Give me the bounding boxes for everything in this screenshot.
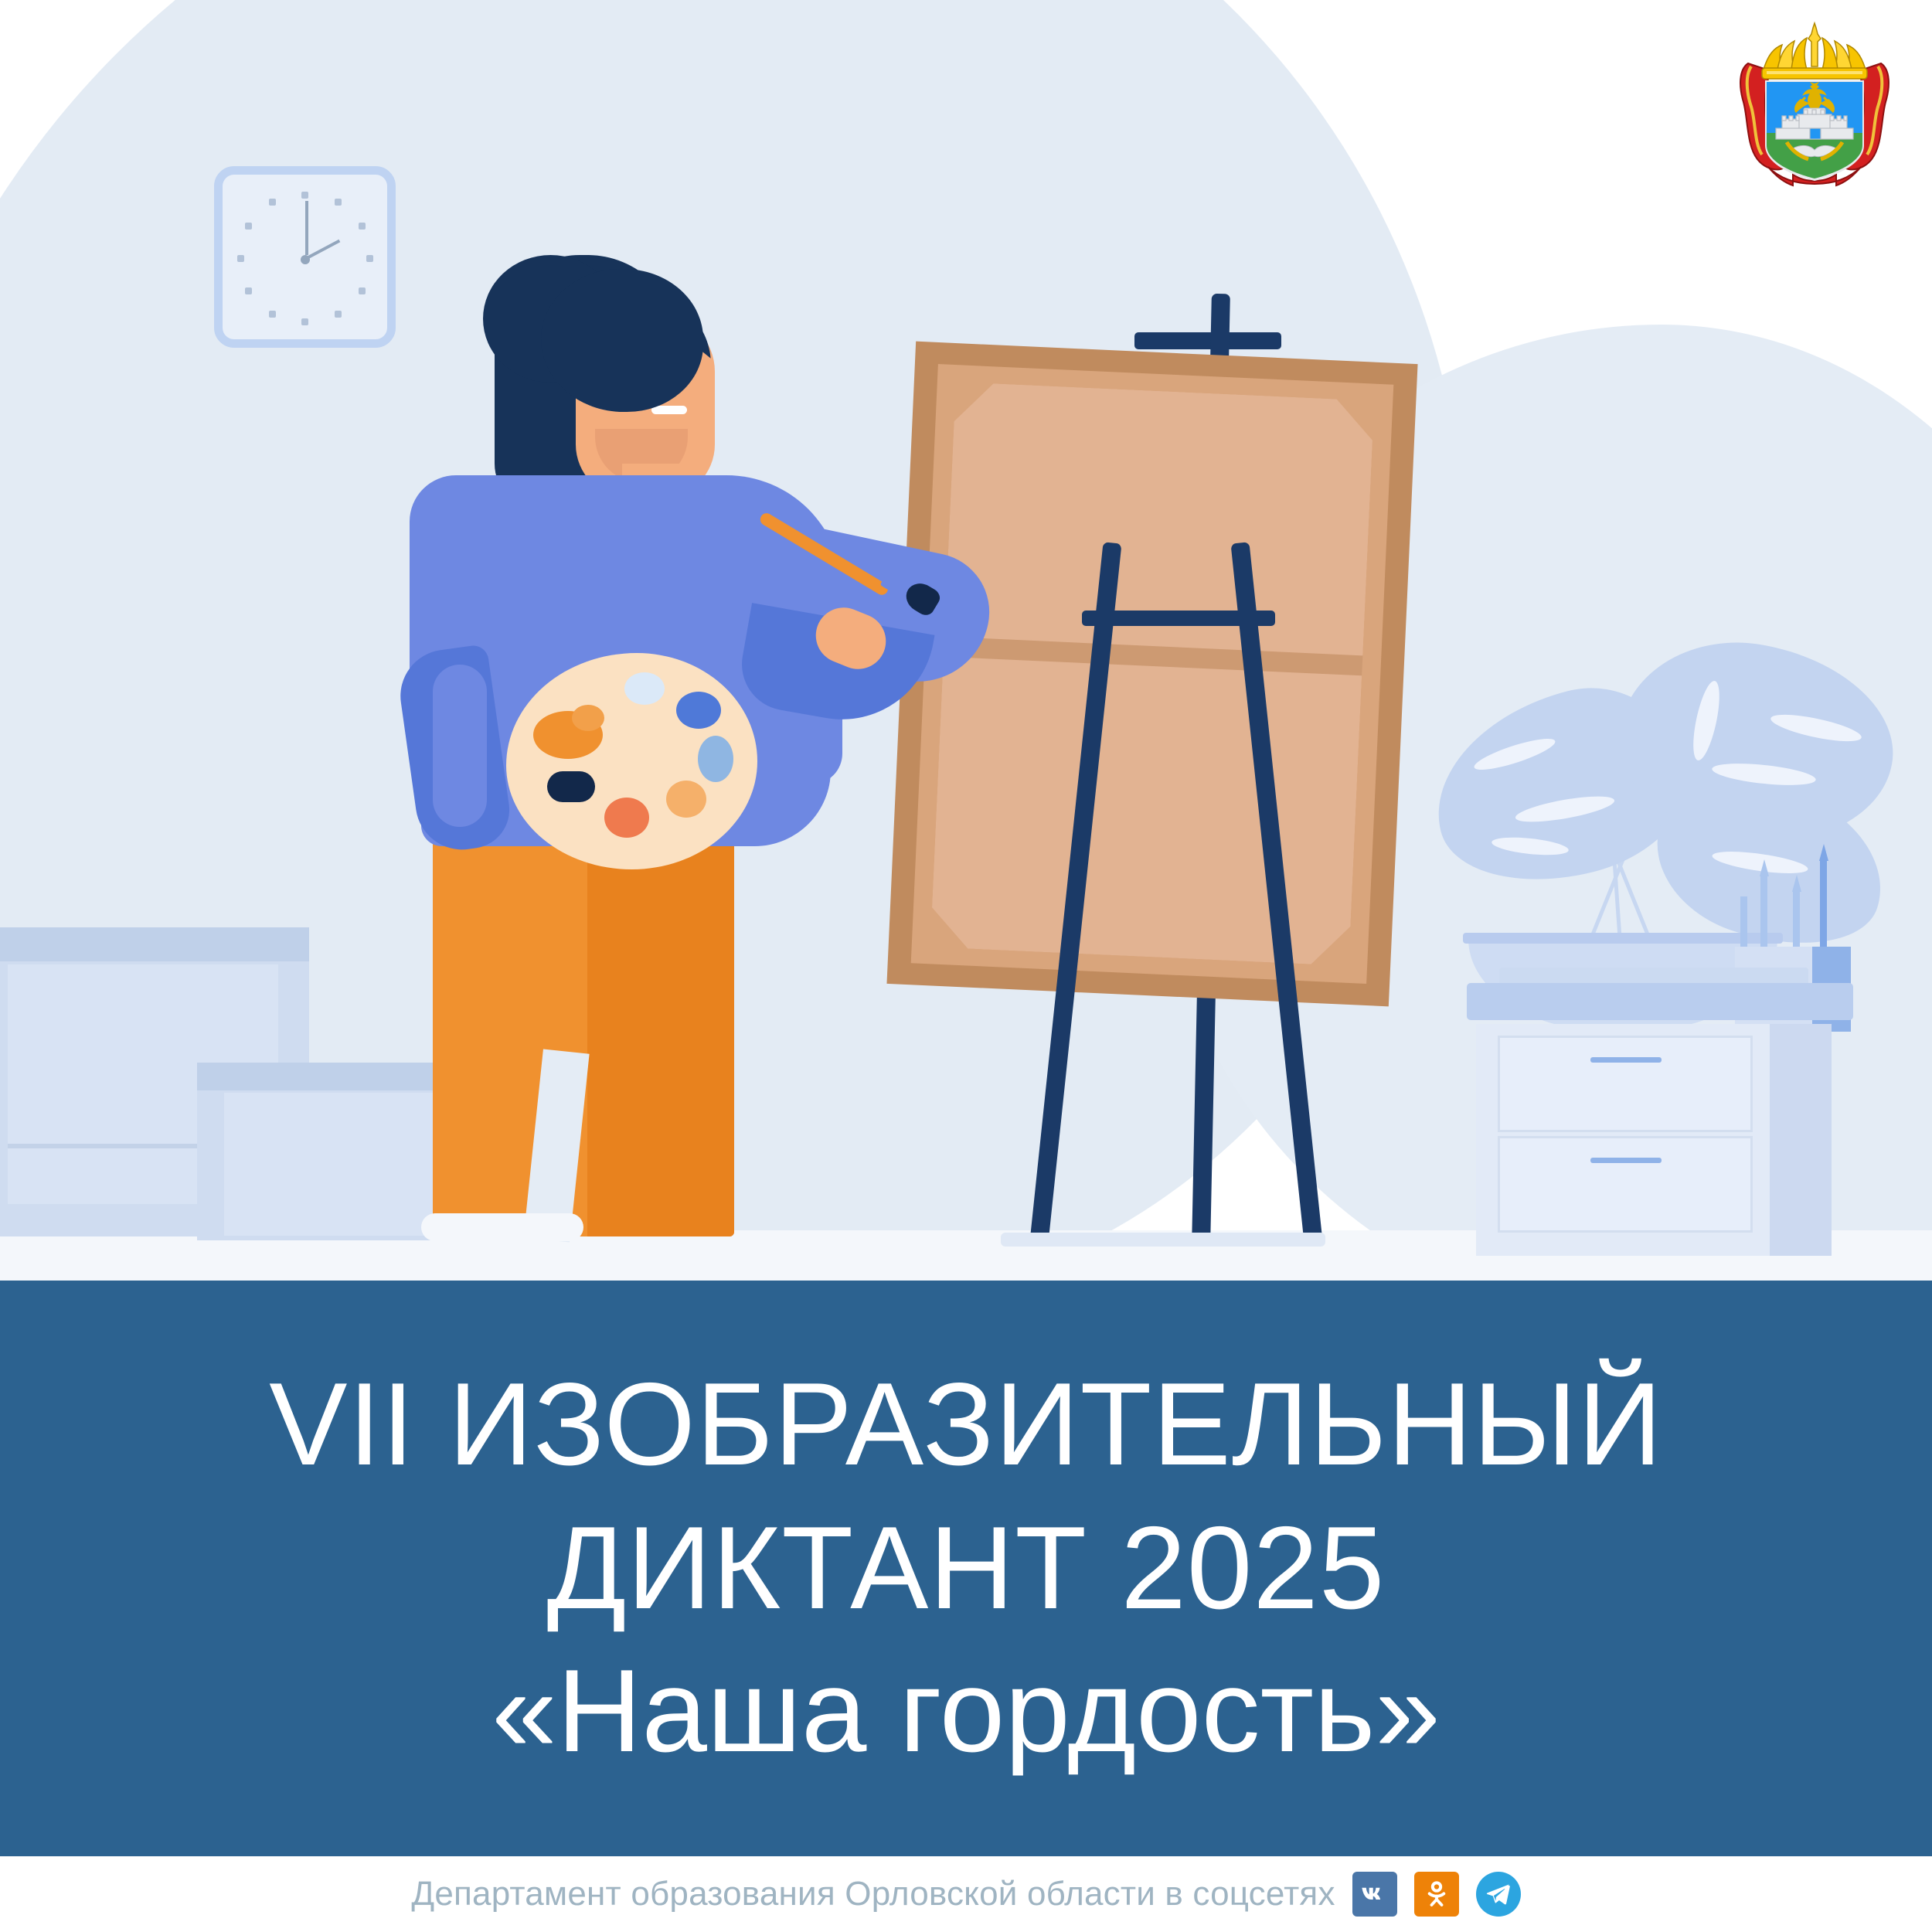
cabinet-top-surface [1467,983,1853,1020]
vk-glyph [1359,1878,1391,1910]
cabinet-drawer[interactable] [1498,1136,1753,1233]
easel-top-bar [1134,332,1281,349]
poster-root: VII ИЗОБРАЗИТЕЛЬНЫЙ ДИКТАНТ 2025 «Наша г… [0,0,1932,1932]
ok-glyph [1421,1879,1452,1910]
artist-hair-crown [541,269,703,412]
telegram-glyph [1485,1880,1512,1908]
paint-blob-pale-blue [624,672,665,705]
poster-title: VII ИЗОБРАЗИТЕЛЬНЫЙ ДИКТАНТ 2025 [223,1353,1709,1640]
footer-label: Департамент образования Орловской област… [411,1875,1335,1913]
clock-marker [301,318,308,325]
illustration-scene [0,0,1932,1283]
clock-marker [335,311,342,318]
clock-center-pin [301,255,310,264]
clock-marker [335,199,342,206]
clock-hour-hand [306,240,340,260]
clock-minute-hand [305,201,308,255]
artist-mouth [651,406,687,414]
artist-left-arm-inner [433,665,487,827]
wall-clock [214,166,396,348]
footer-bar: Департамент образования Орловской област… [0,1856,1932,1932]
paint-blob-royal-blue [676,692,721,729]
clock-marker [237,255,244,262]
odnoklassniki-icon[interactable] [1414,1872,1459,1917]
pencil [1820,858,1827,951]
pencil-tip-icon [1819,844,1828,861]
clock-marker [359,223,366,230]
shelf-box-large-top [0,927,309,961]
clock-marker [245,287,252,294]
poster-title-line2: ДИКТАНТ 2025 [269,1497,1663,1640]
cabinet-drawer[interactable] [1498,1036,1753,1132]
paint-blob-sky-blue [698,736,733,782]
artist-shoe [421,1213,583,1241]
pencil [1793,889,1800,951]
paint-blob-coral [604,798,649,838]
vk-icon[interactable] [1352,1872,1397,1917]
cabinet-drawer-handle[interactable] [1590,1057,1662,1063]
paint-blob-light-orange [666,781,706,818]
cabinet-drawer-handle[interactable] [1590,1158,1662,1163]
canvas-frame [886,342,1417,1007]
pencil [1740,896,1747,951]
title-banner: VII ИЗОБРАЗИТЕЛЬНЫЙ ДИКТАНТ 2025 «Наша г… [0,1281,1932,1856]
plant-pot-rim [1463,933,1783,944]
clock-marker [269,199,276,206]
clock-marker [359,287,366,294]
clock-marker [269,311,276,318]
canvas-mid [911,364,1394,984]
easel-crossbar [1082,611,1275,626]
easel-foot-shadow [1001,1233,1325,1247]
clock-marker [245,223,252,230]
canvas-surface [930,382,1375,966]
poster-title-line1: VII ИЗОБРАЗИТЕЛЬНЫЙ [269,1353,1663,1496]
oryol-oblast-coat-of-arms-icon [1737,15,1892,209]
paint-blob-orange [572,705,604,731]
poster-subtitle: «Наша гордость» [492,1640,1440,1783]
pencil-tip-icon [1792,875,1801,892]
pencil-tip-icon [1760,859,1769,876]
cabinet-side-panel [1770,1024,1832,1256]
clock-marker [301,192,308,199]
telegram-icon[interactable] [1476,1872,1521,1917]
paint-blob-navy [547,771,595,802]
pencil [1760,873,1767,951]
clock-marker [366,255,373,262]
